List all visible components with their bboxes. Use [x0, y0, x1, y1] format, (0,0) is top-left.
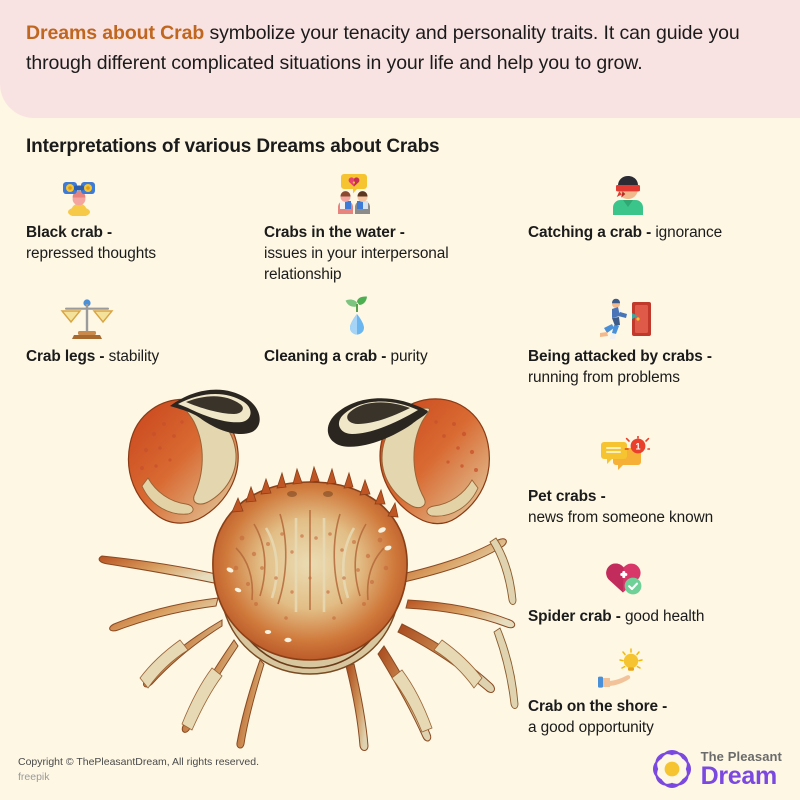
item-caption: Crab legs - stability [26, 346, 256, 367]
blindfolded-person-icon [606, 172, 650, 216]
icon-slot [264, 296, 514, 340]
item-crabs-in-the-water: Crabs in the water - issues in your inte… [264, 172, 514, 285]
item-term: Cleaning a crab - [264, 348, 391, 365]
couple-broken-heart-chat-icon [330, 172, 378, 216]
icon-slot [26, 172, 256, 216]
item-catching-a-crab: Catching a crab - ignorance [528, 172, 798, 243]
item-meaning: good health [625, 608, 704, 625]
footer-copyright: Copyright © ThePleasantDream, All rights… [18, 755, 259, 785]
item-term: Spider crab - [528, 608, 625, 625]
crab-illustration [96, 378, 526, 753]
item-term: Crab legs - [26, 348, 109, 365]
section-title: Interpretations of various Dreams about … [26, 136, 439, 158]
item-crab-on-the-shore: Crab on the shore - a good opportunity [528, 646, 798, 738]
notification-badge-count: 1 [635, 442, 640, 452]
item-meaning: a good opportunity [528, 719, 654, 736]
icon-slot [528, 296, 798, 340]
header-lead: Dreams about Crab [26, 22, 204, 44]
item-crab-legs: Crab legs - stability [26, 296, 256, 367]
crab-illustration-graphic [96, 378, 526, 753]
person-running-through-door-icon [592, 298, 652, 340]
item-caption: Cleaning a crab - purity [264, 346, 514, 367]
item-meaning: purity [391, 348, 428, 365]
infographic-page: Dreams about Crab symbolize your tenacit… [0, 0, 800, 800]
icon-slot [528, 172, 798, 216]
icon-slot: 1 [528, 436, 798, 480]
item-caption: Spider crab - good health [528, 606, 798, 627]
item-meaning: running from problems [528, 369, 680, 386]
item-caption: Catching a crab - ignorance [528, 222, 798, 243]
icon-slot [264, 172, 514, 216]
item-meaning: issues in your interpersonal relationshi… [264, 245, 449, 283]
header-text: Dreams about Crab symbolize your tenacit… [26, 18, 772, 78]
copyright-line: Copyright © ThePleasantDream, All rights… [18, 755, 259, 770]
header-banner: Dreams about Crab symbolize your tenacit… [0, 0, 800, 118]
item-pet-crabs: 1 Pet crabs - news from someone known [528, 436, 798, 528]
item-meaning: news from someone known [528, 509, 713, 526]
item-caption: Being attacked by crabs - running from p… [528, 346, 798, 388]
chat-bubble-notification-icon: 1 [598, 436, 650, 480]
item-caption: Crabs in the water - issues in your inte… [264, 222, 514, 285]
item-term: Being attacked by crabs - [528, 348, 712, 365]
item-term: Catching a crab - [528, 224, 655, 241]
heart-plus-check-icon [602, 558, 648, 600]
item-term: Crabs in the water - [264, 224, 405, 241]
item-caption: Crab on the shore - a good opportunity [528, 696, 798, 738]
item-term: Black crab - [26, 224, 112, 241]
item-caption: Black crab - repressed thoughts [26, 222, 256, 264]
item-term: Pet crabs - [528, 488, 606, 505]
logo-line-1: The Pleasant [701, 750, 782, 763]
item-caption: Pet crabs - news from someone known [528, 486, 798, 528]
item-being-attacked-by-crabs: Being attacked by crabs - running from p… [528, 296, 798, 388]
item-term: Crab on the shore - [528, 698, 667, 715]
item-meaning: stability [109, 348, 159, 365]
item-meaning: repressed thoughts [26, 245, 156, 262]
brand-logo[interactable]: The Pleasant Dream [651, 748, 782, 790]
logo-wordmark: The Pleasant Dream [701, 750, 782, 789]
person-with-binoculars-icon [56, 172, 102, 216]
balance-scale-icon [60, 298, 114, 340]
icon-slot [26, 296, 256, 340]
icon-slot [528, 646, 798, 690]
icon-slot [528, 556, 798, 600]
hand-lightbulb-icon [596, 648, 652, 690]
attribution-line: freepik [18, 770, 259, 785]
pleasant-dream-logo-icon [651, 748, 693, 790]
water-drop-leaf-icon [340, 296, 374, 340]
item-black-crab: Black crab - repressed thoughts [26, 172, 256, 264]
item-spider-crab: Spider crab - good health [528, 556, 798, 627]
logo-line-2: Dream [701, 764, 782, 789]
item-cleaning-a-crab: Cleaning a crab - purity [264, 296, 514, 367]
item-meaning: ignorance [655, 224, 722, 241]
